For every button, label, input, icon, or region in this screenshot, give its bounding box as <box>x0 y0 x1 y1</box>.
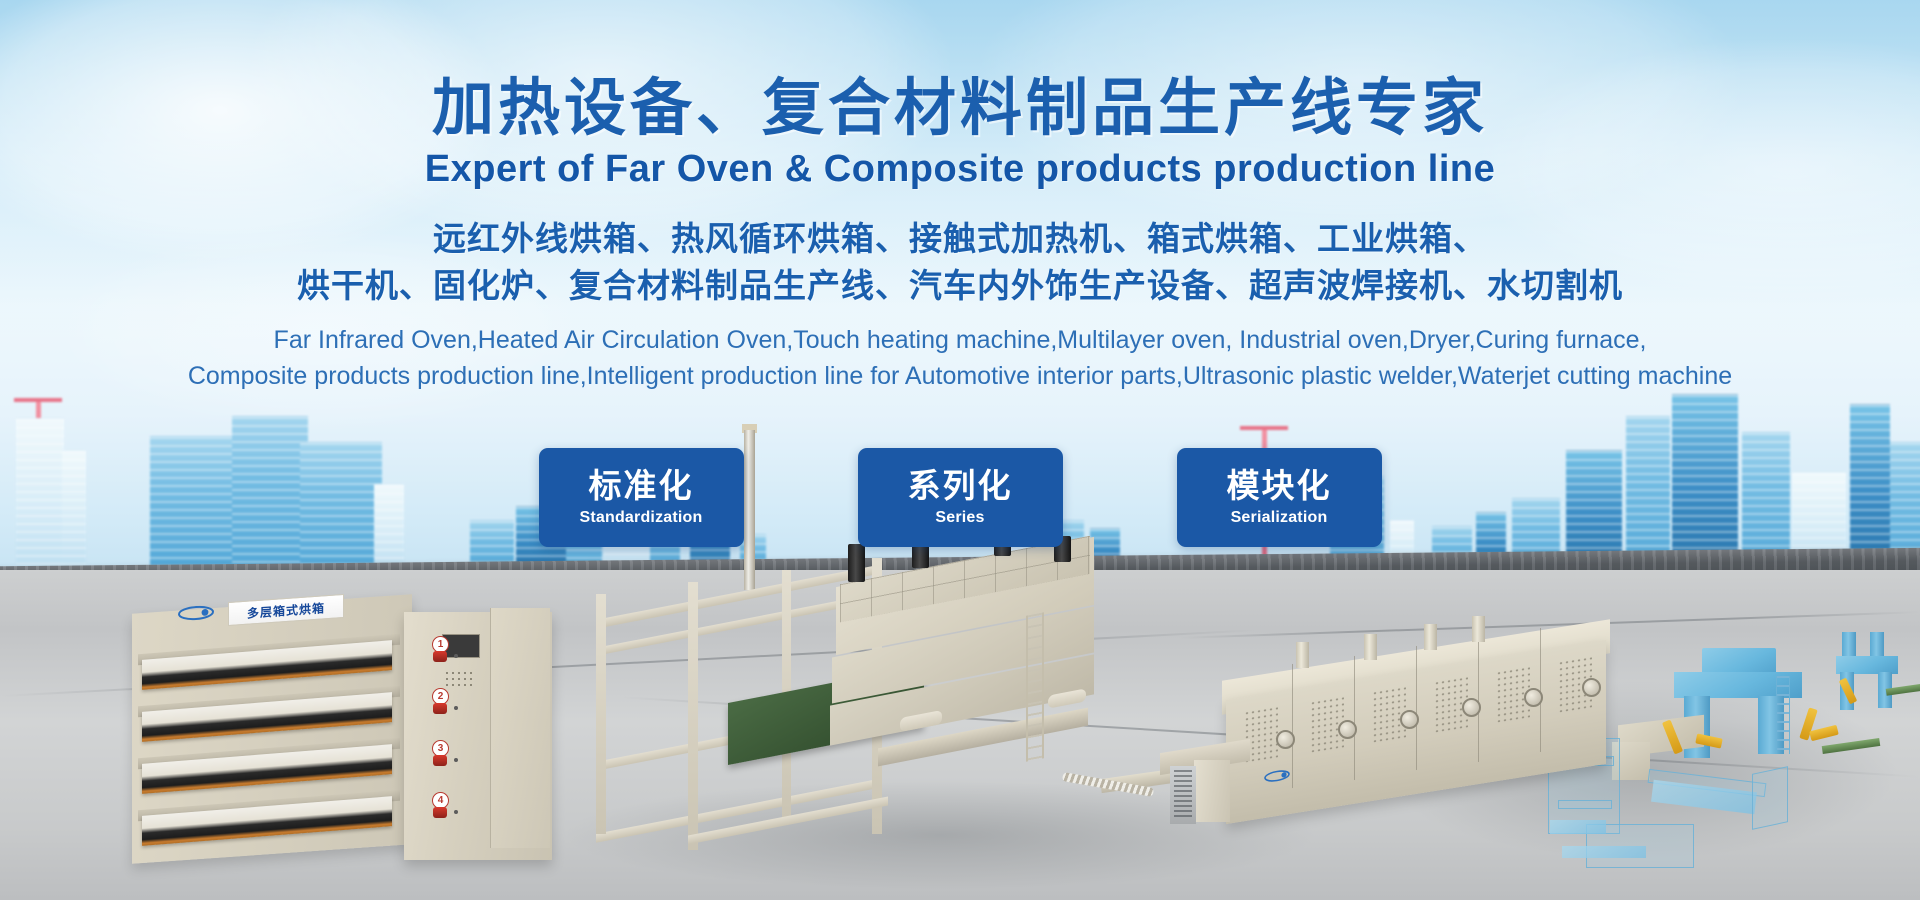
exhaust-stack <box>848 544 865 582</box>
subtitle-cn-line-2: 烘干机、固化炉、复合材料制品生产线、汽车内外饰生产设备、超声波焊接机、水切割机 <box>0 263 1920 310</box>
access-ladder <box>1026 612 1044 761</box>
robot-arm <box>1809 725 1839 741</box>
inspection-port <box>1276 730 1295 749</box>
subtitle-en-line-2: Composite products production line,Intel… <box>0 358 1920 394</box>
machine-nameplate-text: 多层箱式烘箱 <box>247 599 325 621</box>
indicator-dot-icon <box>454 706 458 710</box>
badge-series[interactable]: 系列化 Series <box>858 448 1063 547</box>
cooling-grille <box>1170 766 1196 824</box>
chimney-stack <box>1472 616 1485 642</box>
green-conveyor <box>1822 738 1881 754</box>
badge-label-en: Series <box>935 509 984 527</box>
page-title-en: Expert of Far Oven & Composite products … <box>0 150 1920 190</box>
badge-label-en: Standardization <box>579 509 702 527</box>
badge-label-en: Serialization <box>1231 509 1328 527</box>
layer-indicator-4[interactable]: 4 <box>432 792 466 826</box>
banner-text-block: 加热设备、复合材料制品生产线专家 Expert of Far Oven & Co… <box>0 0 1920 394</box>
vent-grid-icon <box>444 670 476 686</box>
hero-banner: 加热设备、复合材料制品生产线专家 Expert of Far Oven & Co… <box>0 0 1920 900</box>
inspection-port <box>1524 688 1543 707</box>
indicator-dot-icon <box>454 758 458 762</box>
subtitle-en-line-1: Far Infrared Oven,Heated Air Circulation… <box>0 322 1920 358</box>
brand-logo-icon <box>172 604 220 623</box>
indicator-knob-icon[interactable] <box>433 807 447 818</box>
multilayer-oven-machine: 多层箱式烘箱 1 2 3 4 <box>132 604 552 872</box>
layer-indicator-3[interactable]: 3 <box>432 740 466 774</box>
badge-label-cn: 模块化 <box>1227 468 1332 504</box>
badge-standardization[interactable]: 标准化 Standardization <box>539 448 744 547</box>
chimney-stack <box>1424 624 1437 650</box>
layer-indicator-2[interactable]: 2 <box>432 688 466 722</box>
layer-indicator-1[interactable]: 1 <box>432 636 466 670</box>
feature-badge-group: 标准化 Standardization 系列化 Series 模块化 Seria… <box>0 448 1920 547</box>
chimney-stack <box>1364 634 1377 660</box>
tunnel-control-cabinet[interactable] <box>1194 760 1230 822</box>
composite-press-machine <box>592 558 1112 878</box>
tunnel-oven-machine <box>1168 642 1628 862</box>
wireframe-cage <box>1752 766 1788 830</box>
page-title-cn: 加热设备、复合材料制品生产线专家 <box>0 78 1920 140</box>
inspection-port <box>1400 710 1419 729</box>
cabinet-door[interactable] <box>490 608 550 848</box>
inspection-port <box>1462 698 1481 717</box>
subtitle-cn-line-1: 远红外线烘箱、热风循环烘箱、接触式加热机、箱式烘箱、工业烘箱、 <box>0 216 1920 263</box>
access-ladder <box>1776 676 1790 754</box>
inspection-port <box>1582 678 1601 697</box>
badge-serialization[interactable]: 模块化 Serialization <box>1177 448 1382 547</box>
chimney-stack <box>1296 642 1309 668</box>
inspection-port <box>1338 720 1357 739</box>
indicator-knob-icon[interactable] <box>433 755 447 766</box>
indicator-knob-icon[interactable] <box>433 703 447 714</box>
indicator-dot-icon <box>454 654 458 658</box>
badge-label-cn: 系列化 <box>908 468 1013 504</box>
indicator-knob-icon[interactable] <box>433 651 447 662</box>
indicator-dot-icon <box>454 810 458 814</box>
badge-label-cn: 标准化 <box>589 468 694 504</box>
